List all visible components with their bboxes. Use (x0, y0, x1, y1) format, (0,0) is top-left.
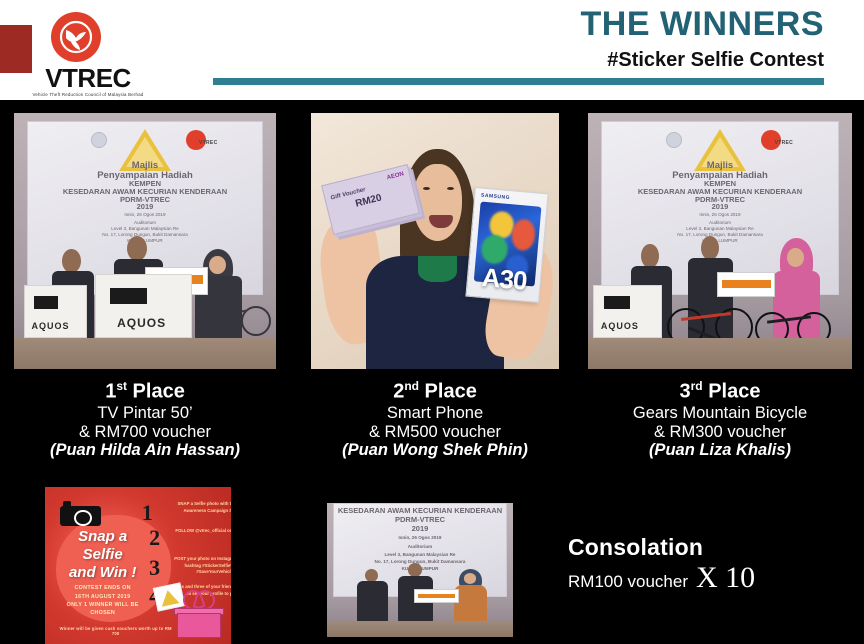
prize-line-2b: & RM500 voucher (296, 423, 574, 441)
winner-recipient-1 (195, 249, 242, 341)
winner-name-1: (Puan Hilda Ain Hassan) (14, 441, 276, 459)
vtrec-wordmark: VTREC (26, 65, 150, 91)
page-header: VTREC Vehicle Theft Reduction Council of… (0, 0, 864, 100)
winner-caption-2: 2nd Place Smart Phone & RM500 voucher (P… (296, 380, 574, 459)
contest-end-line-2: 16TH AUGUST 2019 (60, 593, 146, 601)
slide-c-line-6: 2019 (334, 525, 507, 534)
poster-step-number-3: 3 (149, 555, 160, 581)
hall-floor-3 (588, 338, 852, 369)
ceremony-scene-3: VTREC Majlis Penyampaian Hadiah KEMPEN K… (588, 113, 852, 369)
hall-floor-c (327, 621, 513, 637)
slide-line-6: 2019 (28, 203, 262, 212)
page-subtitle: #Sticker Selfie Contest (607, 49, 824, 71)
ceremony-scene-consolation: KESEDARAN AWAM KECURIAN KENDERAAN PDRM-V… (327, 503, 513, 637)
slide3-line-7: Isnin, 26 Ogos 2019 (602, 212, 838, 217)
slide-line-7: Isnin, 26 Ogos 2019 (28, 212, 262, 217)
winner-photo-3: VTREC Majlis Penyampaian Hadiah KEMPEN K… (588, 113, 852, 369)
contest-end-line-1: CONTEST ENDS ON (60, 584, 146, 592)
poster-headline-3: and Win ! (52, 564, 152, 581)
prize-line-3b: & RM300 voucher (585, 423, 855, 441)
place-ordinal-1: st (116, 379, 127, 393)
poster-headline-1: Snap a (52, 528, 152, 545)
poster-step-text-3: POST your photo on Instagram with the ha… (168, 556, 231, 575)
place-number-2: 2 (393, 381, 404, 403)
place-ordinal-3: rd (691, 379, 703, 393)
shirt-collar (418, 256, 458, 282)
place-number-3: 3 (680, 381, 691, 403)
tv-box-center: AQUOS (95, 274, 192, 338)
vtrec-bird-logo-icon (46, 10, 106, 70)
place-word-1: Place (133, 381, 185, 403)
prize-line-2a: Smart Phone (296, 404, 574, 422)
winner-photo-2: AEON Gift Voucher RM20 SAMSUNG A30 (311, 113, 559, 369)
place-label-1: 1st Place (14, 380, 276, 403)
winner-photo-1: VTREC Majlis Penyampaian Hadiah KEMPEN K… (14, 113, 276, 369)
hall-floor (14, 338, 276, 369)
presenter-left-c (357, 569, 389, 623)
place-word-3: Place (708, 381, 760, 403)
mock-cheque-c (414, 589, 459, 604)
consolation-multiplier: X 10 (696, 561, 755, 595)
slide-line-9: Level 3, Bangunan Malaysian Re (28, 226, 262, 231)
contest-poster: Snap a Selfie and Win ! CONTEST ENDS ON … (45, 487, 231, 644)
slide3-line-8: Auditorium (602, 220, 838, 225)
slide-c-line-9: Level 3, Bangunan Malaysian Re (334, 552, 507, 557)
winner-name-2: (Puan Wong Shek Phin) (296, 441, 574, 459)
phone-brand-label: SAMSUNG (480, 193, 509, 202)
mock-cheque-3 (717, 272, 775, 298)
samsung-phone-box: SAMSUNG A30 (465, 187, 549, 303)
poster-footer-text: Winner will be given cash vouchers worth… (56, 626, 175, 636)
slide-c-line-5: PDRM-VTREC (334, 516, 507, 525)
phone-model-label: A30 (467, 260, 542, 297)
poster-contest-end: CONTEST ENDS ON 16TH AUGUST 2019 ONLY 1 … (60, 584, 146, 618)
slide-c-line-7: Isnin, 26 Ogos 2019 (334, 535, 507, 540)
ceremony-scene-1: VTREC Majlis Penyampaian Hadiah KEMPEN K… (14, 113, 276, 369)
sharp-brand-badge-center (110, 288, 148, 304)
prize-line-1b: & RM700 voucher (14, 423, 276, 441)
consolation-block: Consolation RM100 voucher X 10 (568, 534, 755, 595)
poster-step-number-2: 2 (149, 525, 160, 551)
aquos-label-left-3: AQUOS (601, 321, 634, 331)
place-word-2: Place (425, 381, 477, 403)
face (413, 164, 463, 241)
page-title: THE WINNERS (581, 6, 825, 43)
prize-line-3a: Gears Mountain Bicycle (585, 404, 855, 422)
selfie-scene: AEON Gift Voucher RM20 SAMSUNG A30 (311, 113, 559, 369)
poster-step-number-1: 1 (142, 500, 153, 526)
place-label-3: 3rd Place (585, 380, 855, 403)
pdrm-crest-icon (91, 132, 107, 148)
vtrec-slide-logo-label-3: VTREC (775, 140, 793, 146)
slide3-line-9: Level 3, Bangunan Malaysian Re (602, 226, 838, 231)
sharp-brand-badge-left (34, 296, 58, 309)
header-divider-rule (213, 78, 824, 85)
slide-line-8: Auditorium (28, 220, 262, 225)
tv-box-left-3: AQUOS (593, 285, 662, 339)
slide-c-line-8: Auditorium (334, 544, 507, 549)
gift-box-icon (174, 598, 224, 638)
poster-headline-2: Selfie (52, 546, 152, 563)
prize-line-1a: TV Pintar 50’ (14, 404, 276, 422)
poster-step-text-2: FOLLOW @vtrec_official on Instagram (168, 528, 231, 534)
consolation-title: Consolation (568, 534, 755, 561)
consolation-photo: KESEDARAN AWAM KECURIAN KENDERAAN PDRM-V… (327, 503, 513, 637)
slide3-line-6: 2019 (602, 203, 838, 212)
slide-c-line-4: KESEDARAN AWAM KECURIAN KENDERAAN (334, 507, 507, 516)
voucher-issuer: AEON (386, 172, 404, 182)
vtrec-logo: VTREC Vehicle Theft Reduction Council of… (20, 10, 150, 98)
camera-icon (60, 506, 101, 526)
place-ordinal-2: nd (404, 379, 419, 393)
winner-caption-3: 3rd Place Gears Mountain Bicycle & RM300… (585, 380, 855, 459)
place-number-1: 1 (105, 381, 116, 403)
winner-name-3: (Puan Liza Khalis) (585, 441, 855, 459)
pdrm-crest-icon-3 (666, 132, 682, 148)
poster-step-text-1: SNAP a Selfie photo with the VTREC Aware… (168, 501, 231, 514)
place-label-2: 2nd Place (296, 380, 574, 403)
tv-box-left: AQUOS (24, 285, 87, 339)
consolation-detail-row: RM100 voucher X 10 (568, 561, 755, 595)
aquos-label-center: AQUOS (117, 316, 164, 330)
vtrec-slide-logo-label: VTREC (199, 140, 217, 146)
aquos-label-left: AQUOS (32, 321, 62, 331)
sharp-brand-badge-left-3 (604, 296, 631, 309)
contest-end-line-3: ONLY 1 WINNER WILL BE CHOSEN (60, 601, 146, 618)
winner-caption-1: 1st Place TV Pintar 50’ & RM700 voucher … (14, 380, 276, 459)
vtrec-tagline: Vehicle Theft Reduction Council of Malay… (20, 92, 156, 97)
consolation-subtitle: RM100 voucher (568, 572, 688, 592)
